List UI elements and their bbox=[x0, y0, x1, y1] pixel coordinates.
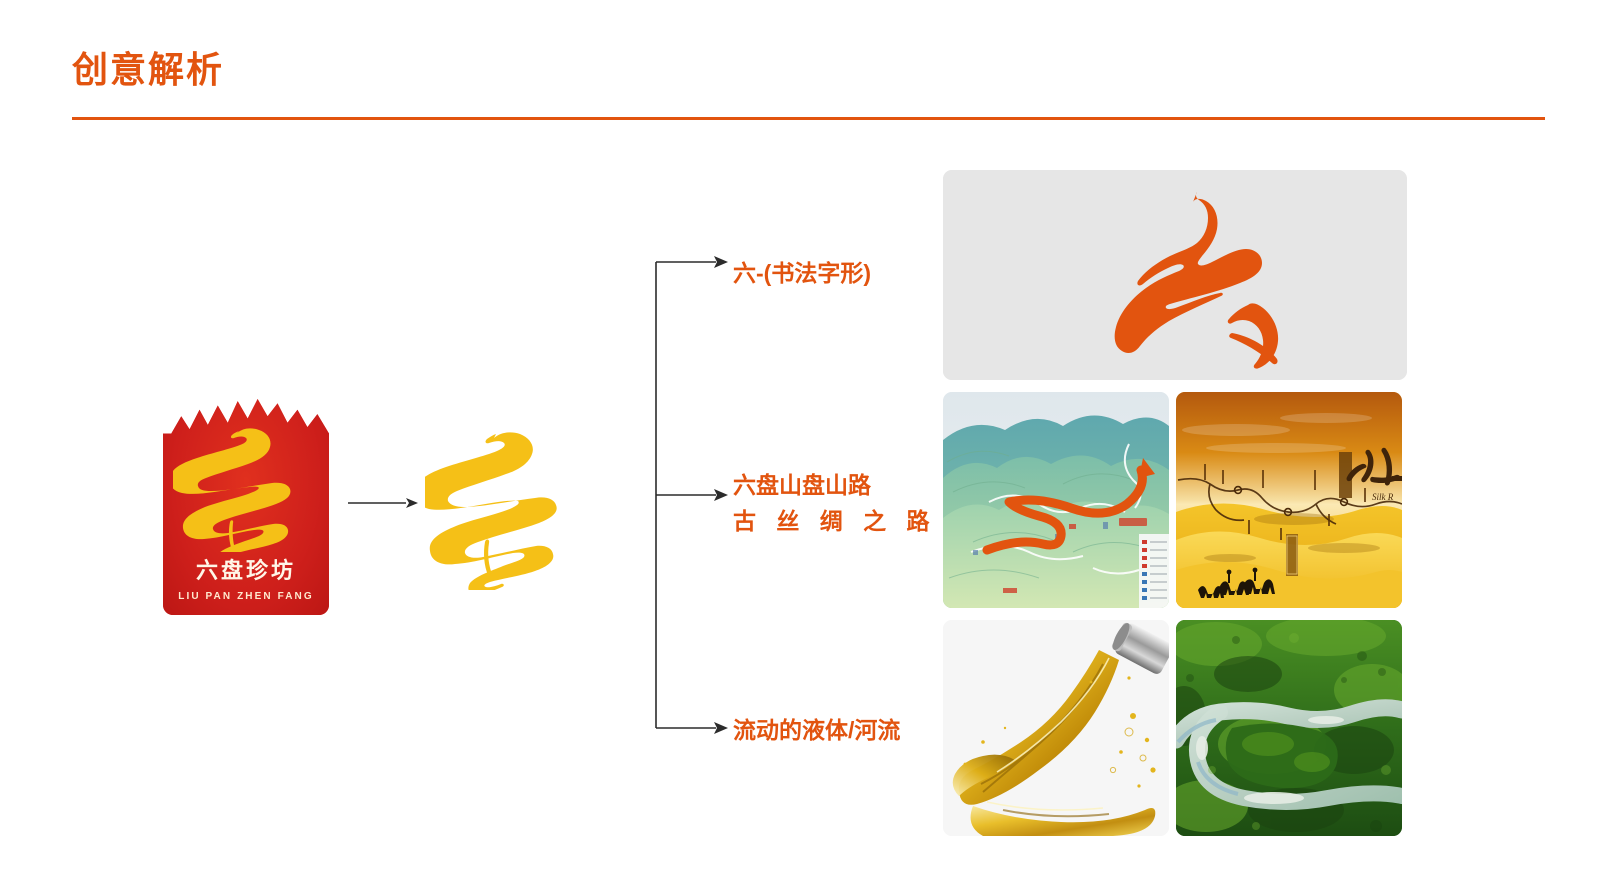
branch-connector-arrows bbox=[628, 250, 728, 750]
silk-road-image: Silk R bbox=[1176, 392, 1402, 608]
oil-flow-image bbox=[943, 620, 1169, 836]
arrow-right-icon bbox=[348, 495, 418, 511]
page-title: 创意解析 bbox=[72, 48, 224, 91]
svg-text:Silk R: Silk R bbox=[1372, 492, 1394, 502]
panel-ancient-silk-road-desert: Silk R bbox=[1176, 392, 1402, 608]
river-aerial-image bbox=[1176, 620, 1402, 836]
mountain-map-image bbox=[943, 392, 1169, 608]
panel-winding-river-aerial bbox=[1176, 620, 1402, 836]
calligraphy-liu-icon bbox=[943, 170, 1407, 380]
logo-name-cn: 六盘珍坊 bbox=[163, 553, 329, 585]
gold-calligraphy-mark-icon bbox=[425, 430, 585, 590]
product-logo: 六盘珍坊 LIU PAN ZHEN FANG bbox=[163, 399, 329, 615]
branch-label-roads-line2: 古 丝 绸 之 路 bbox=[733, 504, 937, 540]
panel-pouring-golden-oil bbox=[943, 620, 1169, 836]
title-divider bbox=[72, 117, 1545, 120]
logo-calligraphy-mark-icon bbox=[173, 427, 319, 552]
branch-label-calligraphy: 六-(书法字形) bbox=[733, 256, 871, 292]
panel-liupan-mountain-road-map bbox=[943, 392, 1169, 608]
logo-name-en: LIU PAN ZHEN FANG bbox=[163, 591, 329, 602]
branch-label-roads-line1: 六盘山盘山路 bbox=[733, 468, 937, 504]
branch-label-flow: 流动的液体/河流 bbox=[733, 713, 900, 749]
branch-label-roads: 六盘山盘山路 古 丝 绸 之 路 bbox=[733, 468, 937, 539]
logo-shield-shape: 六盘珍坊 LIU PAN ZHEN FANG bbox=[163, 399, 329, 615]
panel-calligraphy-liu-character bbox=[943, 170, 1407, 380]
